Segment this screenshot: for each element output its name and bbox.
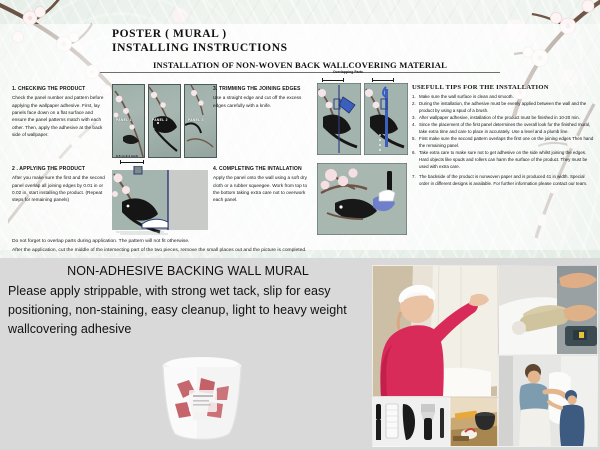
step-3-block: 3. TRIMMING THE JOINING EDGES Use a stra… bbox=[213, 86, 313, 109]
panel-width-dimension-line bbox=[120, 160, 144, 164]
footer-notes-block: Do not forget to overlap parts during ap… bbox=[12, 238, 572, 255]
overlapping-parts-label: Overlapping Parts bbox=[333, 70, 363, 74]
promo-text-block: NON-ADHESIVE BACKING WALL MURAL Please a… bbox=[8, 264, 368, 339]
panel-label-3: PANEL 3 bbox=[188, 118, 204, 122]
step-2-heading: 2 . APPLYING THE PRODUCT bbox=[12, 166, 108, 172]
step-3-figure-straightedge bbox=[364, 83, 408, 155]
tip-number-7: 7. bbox=[412, 174, 419, 187]
tip-text-7: The backside of the product is nonwoven … bbox=[419, 174, 594, 187]
tips-heading: USEFULL TIPS FOR THE INSTALLATION bbox=[412, 84, 594, 91]
overlap-dimension-line-left bbox=[322, 78, 344, 82]
poster-subtitle: INSTALLATION OF NON-WOVEN BACK WALLCOVER… bbox=[100, 60, 500, 73]
installation-photo-collage bbox=[372, 265, 596, 445]
photo-hand-with-paint-roller bbox=[498, 265, 598, 355]
tip-text-6: Take extra care to make sure not to get … bbox=[419, 150, 594, 170]
footer-note-1: Do not forget to overlap parts during ap… bbox=[12, 238, 572, 247]
poster-title-block: POSTER ( MURAL ) INSTALLING INSTRUCTIONS bbox=[112, 28, 288, 54]
step-2-body: After you make sure the first and the se… bbox=[12, 174, 108, 204]
tip-number-2: 2. bbox=[412, 101, 419, 114]
instruction-sheet-area: POSTER ( MURAL ) INSTALLING INSTRUCTIONS… bbox=[0, 0, 600, 258]
tip-number-5: 5. bbox=[412, 136, 419, 149]
tip-text-5: First make sure the second pattern overl… bbox=[419, 136, 594, 149]
step-1-body: Check the panel number and pattern befor… bbox=[12, 94, 108, 139]
step-2-block: 2 . APPLYING THE PRODUCT After you make … bbox=[12, 166, 108, 204]
tip-number-1: 1. bbox=[412, 94, 419, 101]
title-line-2: INSTALLING INSTRUCTIONS bbox=[112, 42, 288, 54]
photo-woman-hanging-wallpaper bbox=[372, 265, 498, 397]
step-4-body: Apply the panel onto the wall using a so… bbox=[213, 174, 313, 204]
panel-figure-1: PANEL 1 bbox=[112, 84, 145, 158]
step-1-block: 1. CHECKING THE PRODUCT Check the panel … bbox=[12, 86, 108, 139]
poster-instruction-sheet: POSTER ( MURAL ) INSTALLING INSTRUCTIONS… bbox=[0, 0, 600, 450]
promo-body: Please apply strippable, with strong wet… bbox=[8, 282, 368, 339]
useful-tips-block: USEFULL TIPS FOR THE INSTALLATION 1.Make… bbox=[412, 84, 594, 188]
tip-number-3: 3. bbox=[412, 115, 419, 122]
tip-item-7: 7.The backside of the product is nonwove… bbox=[412, 174, 594, 187]
tip-text-1: Make sure the wall surface is clean and … bbox=[419, 94, 594, 101]
overlap-dimension-line-right bbox=[372, 78, 394, 82]
tip-number-6: 6. bbox=[412, 150, 419, 170]
tip-item-4: 4.Since the placement of the first panel… bbox=[412, 122, 594, 135]
step-2-figure bbox=[112, 166, 208, 236]
step-4-figure-squeegee bbox=[317, 163, 407, 235]
tip-text-3: After wallpaper adhesive, installation o… bbox=[419, 115, 594, 122]
promo-heading: NON-ADHESIVE BACKING WALL MURAL bbox=[8, 264, 368, 278]
photo-man-and-child-hanging-mural bbox=[498, 355, 598, 447]
step-4-heading: 4. COMPLETING THE INTALLATION bbox=[213, 166, 313, 172]
title-line-1: POSTER ( MURAL ) bbox=[112, 28, 288, 40]
tip-item-6: 6.Take extra care to make sure not to ge… bbox=[412, 150, 594, 170]
tip-item-2: 2.During the installation, the adhesive … bbox=[412, 101, 594, 114]
product-promo-area: NON-ADHESIVE BACKING WALL MURAL Please a… bbox=[0, 258, 600, 450]
panel-figure-2: PANEL 2 bbox=[148, 84, 181, 158]
tip-number-4: 4. bbox=[412, 122, 419, 135]
tip-text-2: During the installation, the adhesive mu… bbox=[419, 101, 594, 114]
step-1-heading: 1. CHECKING THE PRODUCT bbox=[12, 86, 108, 92]
photo-installation-tools bbox=[372, 397, 450, 447]
panel-label-2: PANEL 2 bbox=[152, 118, 168, 122]
step-4-block: 4. COMPLETING THE INTALLATION Apply the … bbox=[213, 166, 313, 204]
step-3-heading: 3. TRIMMING THE JOINING EDGES bbox=[213, 86, 313, 92]
photo-worktable-supplies bbox=[450, 397, 498, 447]
tip-item-3: 3.After wallpaper adhesive, installation… bbox=[412, 115, 594, 122]
step-1-figure-panels: PANEL 1 PANEL 2 PANEL bbox=[112, 84, 217, 158]
tip-item-5: 5.First make sure the second pattern ove… bbox=[412, 136, 594, 149]
step-3-figure-knife bbox=[317, 83, 361, 155]
step-3-body: Use a straight edge and cut off the exce… bbox=[213, 94, 313, 109]
adhesive-paste-bucket bbox=[155, 354, 250, 444]
tip-item-1: 1.Make sure the wall surface is clean an… bbox=[412, 94, 594, 101]
panel-width-dimension-label: 0.5 to 0.1 inch bbox=[116, 154, 138, 158]
tip-text-4: Since the placement of the first panel d… bbox=[419, 122, 594, 135]
panel-label-1: PANEL 1 bbox=[116, 118, 132, 122]
footer-note-2: After the application, cut the middle of… bbox=[12, 247, 572, 256]
